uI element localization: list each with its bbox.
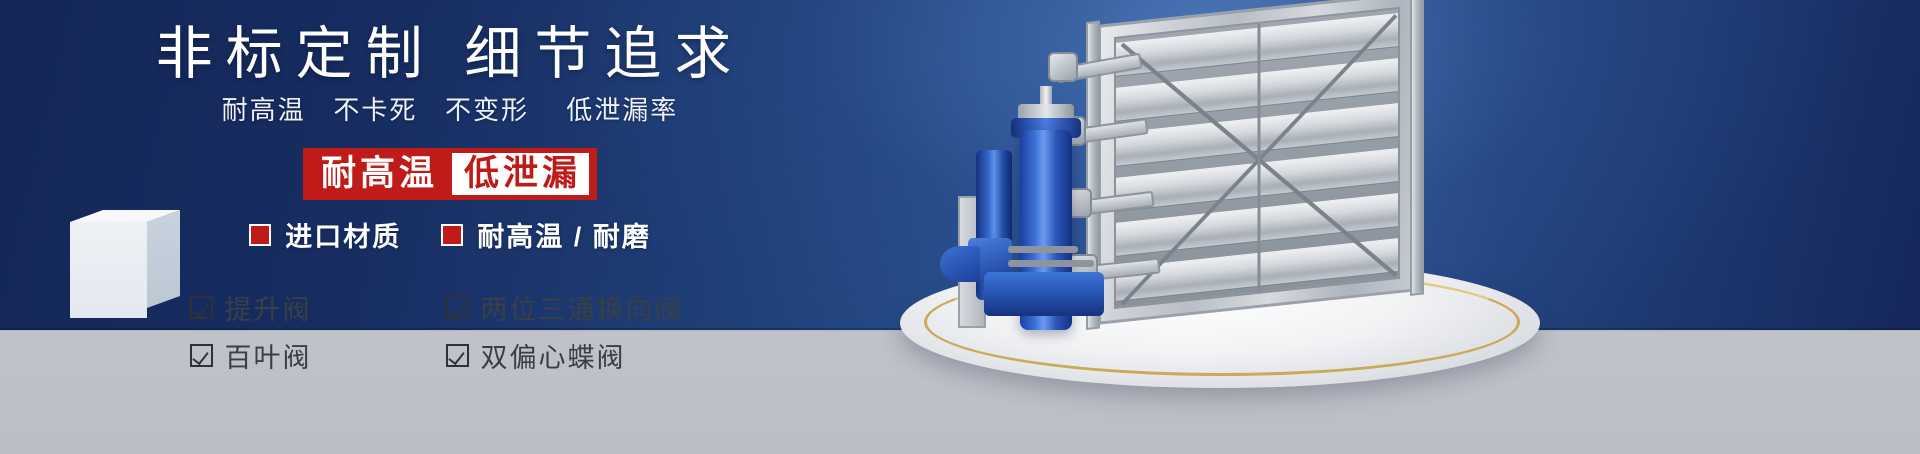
feature-badge-wrap: 耐高温 低泄漏 [0, 148, 900, 200]
banner-text-content: 非标定制 细节追求 耐高温 不卡死 不变形 低泄漏率 耐高温 低泄漏 进口材质 … [0, 0, 1000, 454]
badge-left-label: 耐高温 [317, 153, 452, 195]
hydraulic-pipe-1 [1008, 246, 1078, 253]
subtitle-part-3: 不变形 [445, 95, 529, 125]
subtitle-part-2: 不卡死 [333, 95, 417, 125]
checklist-label-2: 两位三通换向阀 [481, 288, 684, 327]
checklist-label-3: 百叶阀 [225, 336, 312, 375]
badge-right-label: 低泄漏 [452, 153, 589, 195]
subtitle-line: 耐高温 不卡死 不变形 低泄漏率 [0, 92, 900, 128]
check-box-icon [446, 296, 469, 319]
feature-bullet-1: 进口材质 [249, 215, 401, 254]
feature-bullet-2: 耐高温 / 耐磨 [441, 215, 651, 254]
check-box-icon [446, 344, 469, 367]
red-square-icon [441, 224, 463, 246]
list-item: 提升阀 [190, 288, 420, 327]
feature-bullet-2-label: 耐高温 / 耐磨 [477, 215, 651, 254]
check-box-icon [190, 296, 213, 319]
checklist-label-1: 提升阀 [225, 288, 312, 327]
product-checklist: 提升阀 两位三通换向阀 百叶阀 双偏心蝶阀 [0, 283, 900, 379]
check-box-icon [190, 344, 213, 367]
checklist-row: 百叶阀 双偏心蝶阀 [0, 331, 900, 379]
feature-badge: 耐高温 低泄漏 [303, 148, 597, 200]
hydraulic-pipe-2 [1008, 260, 1094, 267]
feature-bullet-1-label: 进口材质 [285, 215, 401, 254]
list-item: 两位三通换向阀 [446, 288, 711, 327]
checklist-label-4: 双偏心蝶阀 [481, 336, 626, 375]
subtitle-part-1: 耐高温 [222, 95, 306, 125]
red-square-icon [249, 224, 271, 246]
list-item: 百叶阀 [190, 336, 420, 375]
louver-damper-valve [1098, 0, 1416, 325]
damper-flange-right [1410, 0, 1424, 296]
hydraulic-manifold [984, 272, 1104, 316]
page-title: 非标定制 细节追求 [0, 18, 900, 90]
list-item: 双偏心蝶阀 [446, 336, 711, 375]
feature-bullets: 进口材质 耐高温 / 耐磨 [0, 215, 900, 254]
subtitle-part-4: 低泄漏率 [566, 95, 678, 125]
linkage-knuckle-1 [1048, 52, 1078, 82]
checklist-row: 提升阀 两位三通换向阀 [0, 283, 900, 331]
product-scene [880, 0, 1920, 454]
promo-banner: 非标定制 细节追求 耐高温 不卡死 不变形 低泄漏率 耐高温 低泄漏 进口材质 … [0, 0, 1920, 454]
